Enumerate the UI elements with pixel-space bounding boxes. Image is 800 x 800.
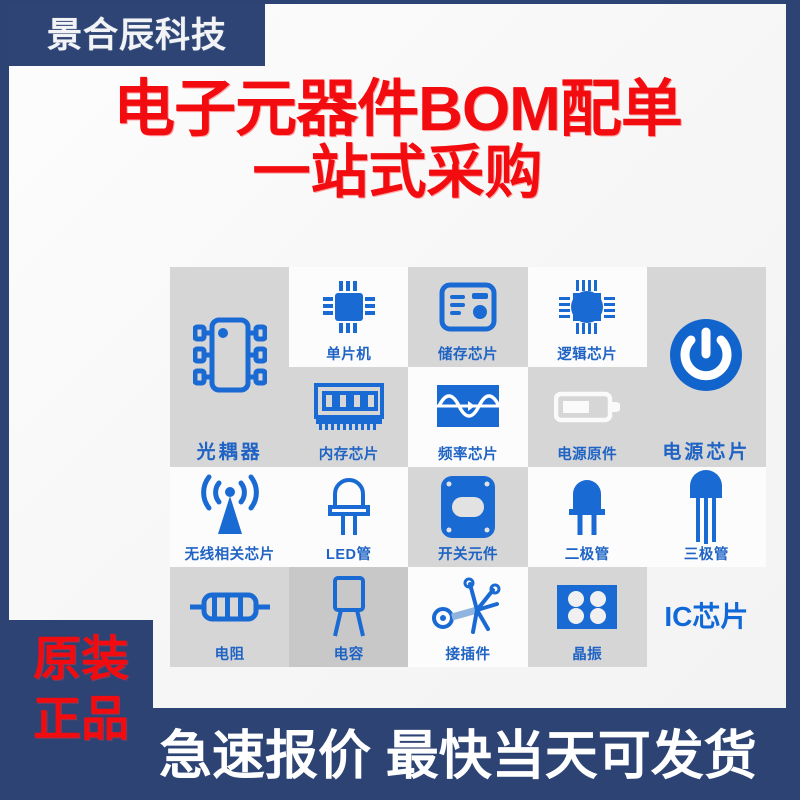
badge-line-2: 正品 [33,690,129,750]
grid-cell-label: 电源原件 [557,448,617,463]
memory-chip-icon [408,267,527,348]
grid-cell-label: 单片机 [326,348,371,363]
logic-chip-icon [528,267,647,348]
diode-icon [528,467,647,548]
switch-element-icon [408,467,527,548]
grid-cell-mcu[interactable]: 单片机 [289,267,408,367]
grid-cell-optocoupler[interactable]: 光耦器 [170,267,289,467]
capacitor-icon [289,567,408,648]
grid-cell-crystal[interactable]: 晶振 [528,567,647,667]
crystal-oscillator-icon [528,567,647,648]
power-symbol-icon [647,267,766,443]
grid-cell-label: 开关元件 [438,548,498,563]
dip-optocoupler-icon [170,267,289,443]
connector-icon [408,567,527,648]
grid-cell-wireless[interactable]: 无线相关芯片 [170,467,289,567]
battery-icon [528,367,647,448]
antenna-signal-icon [170,467,289,548]
grid-cell-label: 储存芯片 [438,348,498,363]
grid-cell-memory[interactable]: 储存芯片 [408,267,527,367]
grid-cell-frequency[interactable]: 频率芯片 [408,367,527,467]
grid-cell-connector[interactable]: 接插件 [408,567,527,667]
grid-cell-label: 三极管 [684,548,729,563]
grid-cell-label: 电源芯片 [662,443,750,462]
grid-cell-label: 内存芯片 [319,448,379,463]
grid-cell-label: 接插件 [445,648,490,663]
brand-banner: 景合辰科技 [9,4,265,66]
waveform-icon [408,367,527,448]
poster-canvas: 景合辰科技 电子元器件BOM配单 一站式采购 [9,4,786,796]
grid-cell-power-component[interactable]: 电源原件 [528,367,647,467]
grid-cell-power-chip[interactable]: 电源芯片 [647,267,766,467]
headline-block: 电子元器件BOM配单 一站式采购 [9,78,786,206]
category-grid: 光耦器 单片机 [170,267,766,667]
grid-cell-resistor[interactable]: 电阻 [170,567,289,667]
grid-cell-capacitor[interactable]: 电容 [289,567,408,667]
grid-cell-led[interactable]: LED管 [289,467,408,567]
grid-cell-ic-chip[interactable]: IC芯片 [647,567,766,667]
grid-cell-label: 频率芯片 [438,448,498,463]
grid-cell-switch[interactable]: 开关元件 [408,467,527,567]
grid-cell-label: 电容 [334,648,364,663]
badge-line-1: 原装 [33,630,129,690]
grid-cell-label: IC芯片 [664,603,748,631]
headline-line-1: 电子元器件BOM配单 [9,78,786,141]
grid-cell-transistor[interactable]: 三极管 [647,467,766,567]
grid-cell-label: LED管 [326,548,372,563]
mcu-chip-icon [289,267,408,348]
resistor-icon [170,567,289,648]
authenticity-badge: 原装 正品 [9,620,153,796]
grid-cell-label: 逻辑芯片 [557,348,617,363]
led-lamp-icon [289,467,408,548]
grid-cell-logic[interactable]: 逻辑芯片 [528,267,647,367]
ram-module-icon [289,367,408,448]
grid-cell-label: 电阻 [215,648,245,663]
grid-cell-label: 光耦器 [197,443,263,462]
transistor-icon [647,464,766,548]
grid-cell-label: 二极管 [565,548,610,563]
bottom-slogan: 急速报价 最快当天可发货 [159,730,757,783]
grid-cell-label: 无线相关芯片 [185,548,275,563]
brand-name: 景合辰科技 [47,18,227,53]
grid-cell-ram[interactable]: 内存芯片 [289,367,408,467]
grid-cell-diode[interactable]: 二极管 [528,467,647,567]
headline-line-2: 一站式采购 [9,141,786,206]
grid-cell-label: 晶振 [572,648,602,663]
